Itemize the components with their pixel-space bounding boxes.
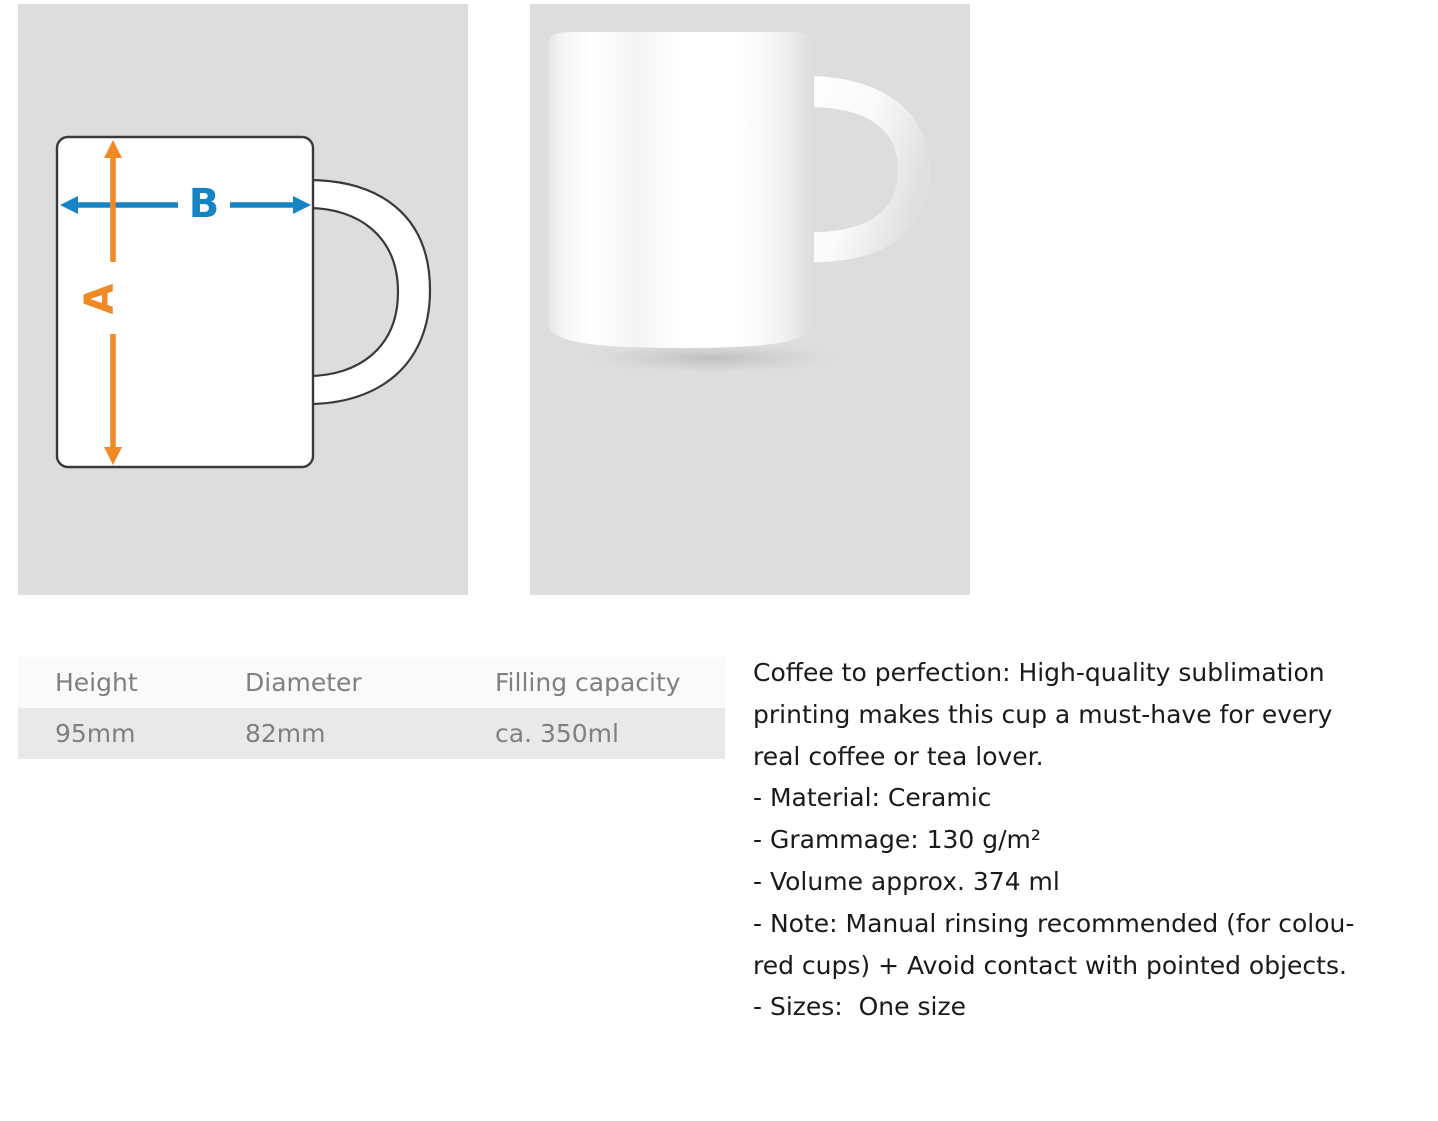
table-row: 95mm 82mm ca. 350ml (18, 708, 725, 759)
description-bullet-note-cont: red cups) + Avoid contact with pointed o… (753, 945, 1413, 987)
specification-table: Height Diameter Filling capacity 95mm 82… (18, 657, 725, 759)
mug-handle-outline (308, 180, 430, 404)
cell-diameter: 82mm (245, 708, 495, 759)
description-intro-line: printing makes this cup a must-have for … (753, 694, 1413, 736)
product-description: Coffee to perfection: High-quality subli… (753, 652, 1413, 1028)
column-header-diameter: Diameter (245, 657, 495, 708)
mug-dimension-drawing: B A (18, 4, 468, 595)
product-image-photo[interactable] (530, 4, 970, 595)
description-bullets: - Material: Ceramic - Grammage: 130 g/m²… (753, 777, 1413, 1028)
column-header-height: Height (18, 657, 245, 708)
description-bullet-volume: - Volume approx. 374 ml (753, 861, 1413, 903)
table-header-row: Height Diameter Filling capacity (18, 657, 725, 708)
description-bullet-sizes: - Sizes: One size (753, 986, 1413, 1028)
description-bullet-grammage: - Grammage: 130 g/m² (753, 819, 1413, 861)
mug-handle (798, 76, 930, 262)
cell-height: 95mm (18, 708, 245, 759)
mug-body (548, 32, 814, 348)
product-image-diagram[interactable]: B A (18, 4, 468, 595)
white-mug-photo (530, 4, 970, 595)
column-header-filling-capacity: Filling capacity (495, 657, 725, 708)
description-bullet-note: - Note: Manual rinsing recommended (for … (753, 903, 1413, 945)
diameter-label-b: B (189, 181, 220, 227)
description-intro: Coffee to perfection: High-quality subli… (753, 652, 1413, 777)
height-label-a: A (77, 283, 123, 314)
description-bullet-material: - Material: Ceramic (753, 777, 1413, 819)
description-intro-line: real coffee or tea lover. (753, 736, 1413, 778)
description-intro-line: Coffee to perfection: High-quality subli… (753, 652, 1413, 694)
cell-filling-capacity: ca. 350ml (495, 708, 725, 759)
